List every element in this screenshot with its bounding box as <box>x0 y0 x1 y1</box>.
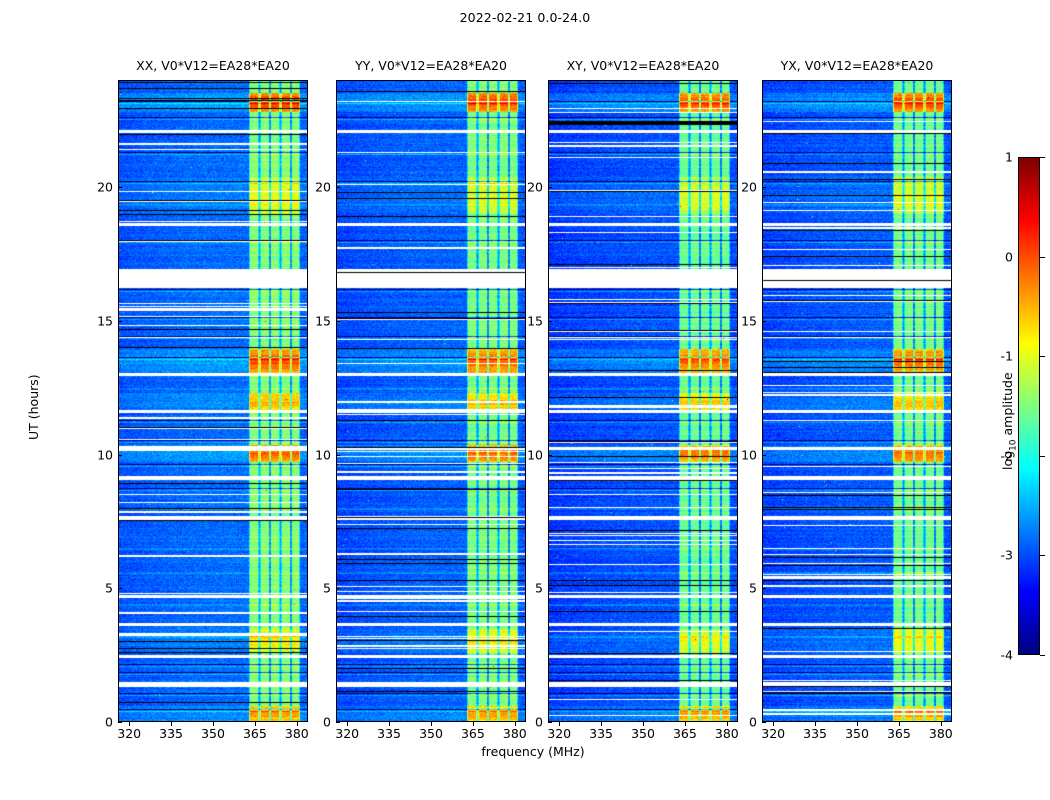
x-tick-label: 320 <box>335 726 359 741</box>
x-tick-label: 320 <box>117 726 141 741</box>
y-tick <box>336 321 340 322</box>
y-tick-label: 15 <box>527 313 548 328</box>
y-tick-label: 5 <box>105 581 118 596</box>
x-tick-label: 365 <box>673 726 697 741</box>
colorbar-tick-label: 0 <box>1005 249 1018 264</box>
spectrum-panel-xy[interactable] <box>548 80 738 722</box>
y-tick-label: 10 <box>527 447 548 462</box>
x-tick-label: 335 <box>589 726 613 741</box>
colorbar-tick <box>1040 257 1045 258</box>
y-tick-label: 0 <box>105 715 118 730</box>
y-tick-label: 10 <box>741 447 762 462</box>
x-tick-label: 380 <box>503 726 527 741</box>
colorbar-tick <box>1040 555 1045 556</box>
x-tick-label: 335 <box>803 726 827 741</box>
y-tick <box>548 187 552 188</box>
x-tick-label: 320 <box>761 726 785 741</box>
x-tick-label: 350 <box>419 726 443 741</box>
colorbar-tick-label: -3 <box>1001 548 1018 563</box>
y-tick-label: 20 <box>741 180 762 195</box>
colorbar-label: log10 amplitude <box>1000 372 1019 470</box>
x-tick-label: 320 <box>547 726 571 741</box>
y-tick-label: 15 <box>97 313 118 328</box>
colorbar-label-base: log <box>1000 451 1015 470</box>
x-tick-label: 335 <box>377 726 401 741</box>
colorbar-tick <box>1040 655 1045 656</box>
colorbar-tick-label: 1 <box>1005 150 1018 165</box>
panel-title-xx: XX, V0*V12=EA28*EA20 <box>118 58 308 76</box>
x-tick-labels-panel-0: 320335350365380 <box>118 726 308 746</box>
y-tick <box>336 187 340 188</box>
y-tick-label: 0 <box>323 715 336 730</box>
y-tick-label: 5 <box>535 581 548 596</box>
x-tick-label: 350 <box>631 726 655 741</box>
y-tick-label: 5 <box>749 581 762 596</box>
colorbar-label-sub: 10 <box>1009 439 1019 450</box>
x-tick-label: 365 <box>243 726 267 741</box>
colorbar-tick <box>1040 356 1045 357</box>
y-tick <box>762 455 766 456</box>
y-tick <box>118 321 122 322</box>
y-tick <box>118 722 122 723</box>
figure-suptitle: 2022-02-21 0.0-24.0 <box>0 10 1050 25</box>
spectrum-panel-xx[interactable] <box>118 80 308 722</box>
y-tick <box>118 455 122 456</box>
y-tick <box>548 321 552 322</box>
y-tick <box>548 455 552 456</box>
colorbar-label-rest: amplitude <box>1000 372 1015 439</box>
y-tick <box>118 588 122 589</box>
y-tick <box>762 722 766 723</box>
colorbar-tick-label: -4 <box>1001 648 1018 663</box>
y-tick-label: 20 <box>315 180 336 195</box>
colorbar-tick <box>1040 157 1045 158</box>
y-axis-label: UT (hours) <box>26 374 41 440</box>
x-tick-label: 380 <box>715 726 739 741</box>
colorbar[interactable] <box>1018 157 1040 655</box>
y-tick <box>336 722 340 723</box>
y-tick-label: 20 <box>527 180 548 195</box>
y-tick-label: 5 <box>323 581 336 596</box>
y-tick <box>548 722 552 723</box>
y-tick-label: 10 <box>315 447 336 462</box>
x-tick-labels-panel-2: 320335350365380 <box>548 726 738 746</box>
y-tick <box>548 588 552 589</box>
colorbar-tick <box>1040 456 1045 457</box>
x-axis-label: frequency (MHz) <box>118 744 948 759</box>
x-tick-label: 365 <box>887 726 911 741</box>
y-tick-label: 0 <box>535 715 548 730</box>
y-tick <box>336 455 340 456</box>
x-tick-label: 350 <box>845 726 869 741</box>
y-tick-label: 0 <box>749 715 762 730</box>
x-tick-label: 350 <box>201 726 225 741</box>
figure-canvas: 2022-02-21 0.0-24.0 XX, V0*V12=EA28*EA20… <box>0 0 1050 800</box>
y-tick-label: 10 <box>97 447 118 462</box>
y-tick-label: 15 <box>741 313 762 328</box>
panel-title-yx: YX, V0*V12=EA28*EA20 <box>762 58 952 76</box>
x-tick-label: 335 <box>159 726 183 741</box>
y-tick <box>762 321 766 322</box>
y-tick <box>762 588 766 589</box>
colorbar-tick-label: -1 <box>1001 349 1018 364</box>
y-tick <box>762 187 766 188</box>
y-tick <box>336 588 340 589</box>
spectrum-panel-yy[interactable] <box>336 80 526 722</box>
panel-title-xy: XY, V0*V12=EA28*EA20 <box>548 58 738 76</box>
x-tick-labels-panel-1: 320335350365380 <box>336 726 526 746</box>
y-tick-label: 20 <box>97 180 118 195</box>
x-tick-label: 365 <box>461 726 485 741</box>
x-tick-label: 380 <box>929 726 953 741</box>
spectrum-panel-yx[interactable] <box>762 80 952 722</box>
panel-title-yy: YY, V0*V12=EA28*EA20 <box>336 58 526 76</box>
y-tick <box>118 187 122 188</box>
y-tick-label: 15 <box>315 313 336 328</box>
x-tick-label: 380 <box>285 726 309 741</box>
x-tick-labels-panel-3: 320335350365380 <box>762 726 952 746</box>
